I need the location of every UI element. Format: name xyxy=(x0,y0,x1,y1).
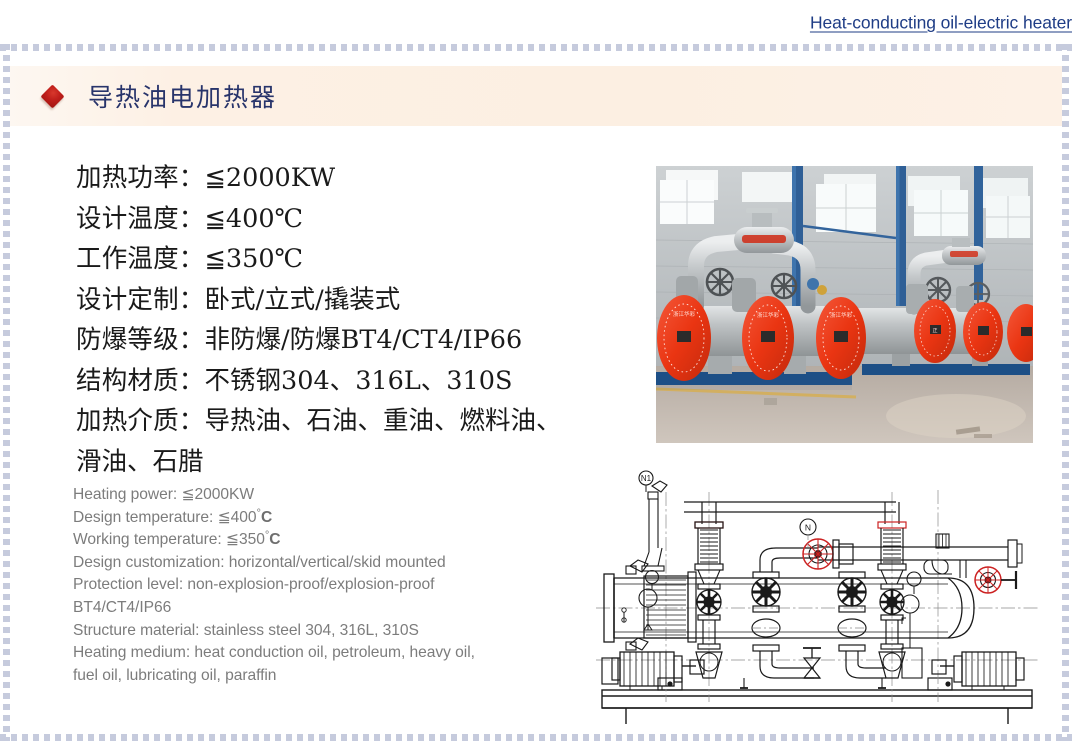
specifications-english: Heating power: ≦2000KW Design temperatur… xyxy=(73,484,603,687)
spec-label: 设计定制： xyxy=(76,285,205,315)
svg-text:N: N xyxy=(805,523,811,533)
frame-border-top xyxy=(0,44,1072,51)
svg-text:正: 正 xyxy=(932,328,937,334)
spec-row-working-temperature: 工作温度：≦350℃ xyxy=(76,239,636,280)
spec-label: 加热介质： xyxy=(76,406,205,436)
svg-text:浙江华彩: 浙江华彩 xyxy=(757,311,780,319)
frame-border-bottom xyxy=(0,734,1072,741)
spec-row-structure-material: 结构材质：不锈钢304、316L、310S xyxy=(76,361,636,402)
en-design-temperature-text: Design temperature: ≦400 xyxy=(73,509,257,526)
en-design-customization: Design customization: horizontal/vertica… xyxy=(73,552,603,575)
en-heating-power: Heating power: ≦2000KW xyxy=(73,484,603,507)
engineering-drawing: N1 N xyxy=(596,462,1040,730)
spec-label: 结构材质： xyxy=(76,366,205,396)
celsius-letter: C xyxy=(261,509,272,526)
spec-row-heating-medium: 加热介质：导热油、石油、重油、燃料油、 xyxy=(76,401,636,442)
en-heating-medium-1: Heating medium: heat conduction oil, pet… xyxy=(73,642,603,665)
spec-row-protection-level: 防爆等级：非防爆/防爆BT4/CT4/IP66 xyxy=(76,320,636,361)
en-protection-level-2: BT4/CT4/IP66 xyxy=(73,597,603,620)
en-heating-medium-2: fuel oil, lubricating oil, paraffin xyxy=(73,665,603,688)
spec-value: 非防爆/防爆BT4/CT4/IP66 xyxy=(205,325,523,355)
en-structure-material: Structure material: stainless steel 304,… xyxy=(73,620,603,643)
page-header: Heat-conducting oil-electric heater xyxy=(0,0,1072,44)
en-working-temperature-text: Working temperature: ≦350 xyxy=(73,531,265,548)
red-diamond-bullet-icon xyxy=(40,84,64,108)
specifications-chinese: 加热功率：≦2000KW 设计温度：≦400℃ 工作温度：≦350℃ 设计定制：… xyxy=(76,158,636,482)
header-title-link[interactable]: Heat-conducting oil-electric heater xyxy=(810,13,1072,34)
spec-label: 防爆等级： xyxy=(76,325,205,355)
spec-value: 导热油、石油、重油、燃料油、 xyxy=(205,406,562,436)
section-title: 导热油电加热器 xyxy=(88,78,277,114)
spec-value: ≦2000KW xyxy=(205,163,336,193)
svg-text:N1: N1 xyxy=(641,474,652,483)
spec-row-design-customization: 设计定制：卧式/立式/撬装式 xyxy=(76,280,636,321)
spec-row-heating-medium-cont: 滑油、石腊 xyxy=(76,442,636,483)
spec-value: ≦400℃ xyxy=(205,204,304,234)
frame-border-left xyxy=(3,44,10,741)
en-design-temperature: Design temperature: ≦400°C xyxy=(73,507,603,530)
frame-border-right xyxy=(1062,44,1069,741)
svg-text:浙江华彩: 浙江华彩 xyxy=(673,310,696,318)
spec-label: 设计温度： xyxy=(76,204,205,234)
en-protection-level-1: Protection level: non-explosion-proof/ex… xyxy=(73,574,603,597)
spec-row-design-temperature: 设计温度：≦400℃ xyxy=(76,199,636,240)
spec-label: 工作温度： xyxy=(76,244,205,274)
spec-value: 卧式/立式/撬装式 xyxy=(205,285,401,315)
spec-value: 不锈钢304、316L、310S xyxy=(205,366,513,396)
celsius-letter: C xyxy=(269,531,280,548)
product-photo: 正 xyxy=(656,166,1033,443)
spec-value: ≦350℃ xyxy=(205,244,304,274)
spec-row-heating-power: 加热功率：≦2000KW xyxy=(76,158,636,199)
spec-label: 加热功率： xyxy=(76,163,205,193)
section-title-banner: 导热油电加热器 xyxy=(10,66,1062,126)
svg-text:浙江华彩: 浙江华彩 xyxy=(830,311,853,319)
spec-value: 滑油、石腊 xyxy=(76,447,204,477)
en-working-temperature: Working temperature: ≦350°C xyxy=(73,529,603,552)
